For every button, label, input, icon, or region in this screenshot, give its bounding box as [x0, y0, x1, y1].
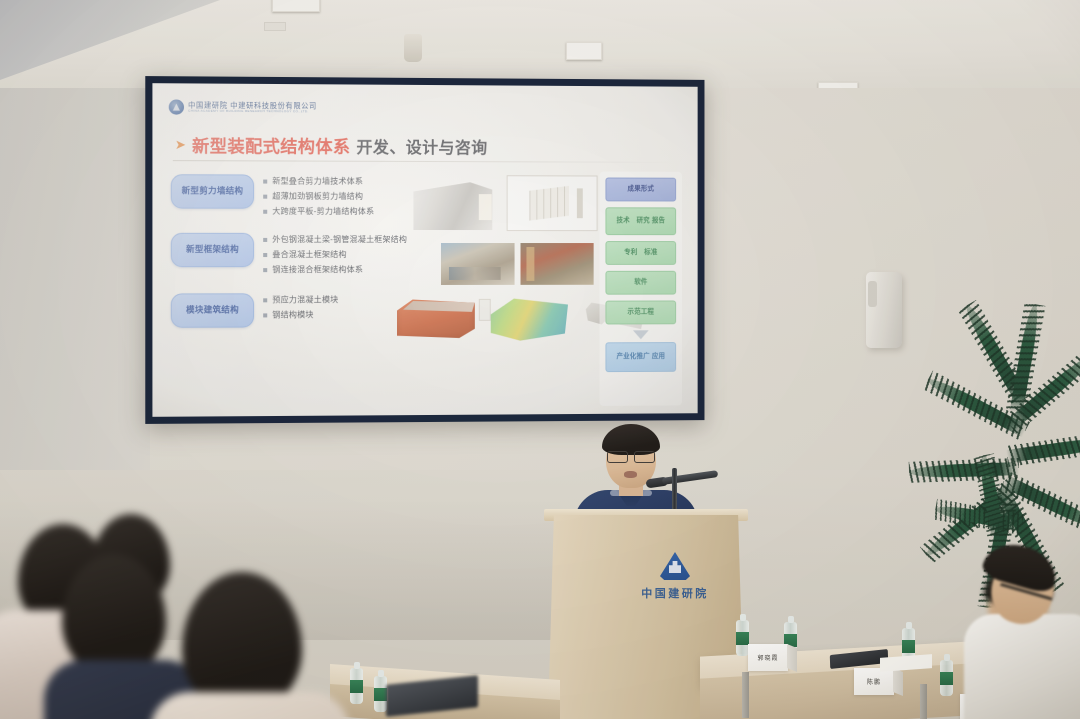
list-item: 钢连接混合框架结构体系	[263, 264, 407, 275]
name-placard: 陈鹏	[854, 668, 894, 695]
bullet-text: 钢连接混合框架结构体系	[272, 264, 363, 275]
list-item: 外包钢混凝土梁-钢管混凝土框架结构	[263, 234, 407, 245]
podium-organization-name: 中国建研院	[626, 585, 724, 601]
slide-title-highlight: 新型装配式结构体系	[192, 132, 350, 158]
table-leg	[742, 672, 749, 718]
presentation-slide: 中国建研院 中建研科技股份有限公司 CHINA ACADEMY OF BUILD…	[152, 83, 697, 417]
slide-title: ➤ 新型装配式结构体系 开发、设计与咨询	[175, 132, 488, 158]
slide-logo: 中国建研院 中建研科技股份有限公司 CHINA ACADEMY OF BUILD…	[169, 99, 317, 115]
flow-column: 成果形式 技术 研究 报告 专利 标准 软件 示范工程 产业化推广 应用	[605, 178, 676, 379]
slide-logo-cn: 中国建研院 中建研科技股份有限公司	[188, 101, 317, 109]
bullet-list: 新型叠合剪力墙技术体系 超薄加劲钢板剪力墙结构 大跨度平板-剪力墙结构体系	[263, 175, 374, 221]
list-item: 钢结构模块	[263, 309, 338, 320]
water-bottle	[940, 660, 953, 696]
flow-step: 示范工程	[605, 300, 676, 324]
down-arrow-icon	[633, 330, 649, 339]
bullet-text: 预应力混凝土模块	[272, 294, 338, 305]
bullet-text: 超薄加劲钢板剪力墙结构	[272, 191, 363, 202]
fea-legend	[479, 299, 491, 321]
palm-frond	[909, 462, 1019, 479]
slide-title-rest: 开发、设计与咨询	[356, 133, 487, 158]
slide-logo-en: CHINA ACADEMY OF BUILDING RESEARCH TECHN…	[188, 110, 317, 114]
construction-site-photo-b	[521, 243, 594, 285]
presenter-mouth	[624, 471, 637, 478]
bullet-text: 新型叠合剪力墙技术体系	[272, 176, 363, 187]
square-bullet-icon	[263, 298, 267, 302]
ceiling-light	[566, 42, 602, 60]
list-item: 新型叠合剪力墙技术体系	[263, 176, 374, 187]
ceiling-light	[272, 0, 320, 12]
ceiling-speaker	[404, 34, 422, 62]
glasses-icon	[607, 451, 655, 461]
water-bottle	[350, 668, 363, 704]
audience-shirt	[964, 614, 1080, 719]
square-bullet-icon	[263, 268, 267, 272]
list-item: 叠合混凝土框架结构	[263, 249, 407, 260]
square-bullet-icon	[263, 313, 267, 317]
concrete-module-render	[397, 297, 475, 339]
flow-step: 技术 研究 报告	[605, 207, 676, 235]
bullet-list: 外包钢混凝土梁-钢管混凝土框架结构 叠合混凝土框架结构 钢连接混合框架结构体系	[263, 233, 407, 279]
square-bullet-icon	[263, 253, 267, 257]
list-item: 大跨度平板-剪力墙结构体系	[263, 206, 374, 217]
cabr-emblem-icon	[660, 552, 690, 580]
title-divider	[173, 160, 672, 163]
conference-room-scene: 中国建研院 中建研科技股份有限公司 CHINA ACADEMY OF BUILD…	[0, 0, 1080, 719]
technical-drawing	[507, 175, 598, 231]
category-box: 新型框架结构	[171, 233, 254, 267]
name-placard: 郭晓霞	[748, 644, 788, 671]
category-box: 模块建筑结构	[171, 293, 254, 327]
table-leg	[920, 684, 927, 719]
bullet-text: 钢结构模块	[272, 309, 313, 320]
construction-site-photo-a	[441, 243, 515, 285]
list-item: 超薄加劲钢板剪力墙结构	[263, 191, 374, 202]
flow-step: 软件	[605, 271, 676, 295]
wall-dispenser	[866, 272, 902, 348]
foreground-laptop-area	[386, 678, 506, 719]
podium-logo: 中国建研院	[626, 552, 724, 601]
square-bullet-icon	[263, 179, 267, 183]
bullet-text: 叠合混凝土框架结构	[272, 249, 346, 260]
category-box: 新型剪力墙结构	[171, 174, 254, 208]
square-bullet-icon	[263, 237, 267, 241]
bullet-text: 大跨度平板-剪力墙结构体系	[272, 206, 374, 217]
bullet-arrow-icon: ➤	[175, 138, 186, 151]
audience-shoulders	[150, 692, 350, 719]
flow-footer: 产业化推广 应用	[605, 342, 676, 372]
foreground-audience	[0, 514, 330, 719]
flow-step: 专利 标准	[605, 241, 676, 265]
list-item: 预应力混凝土模块	[263, 294, 338, 305]
bullet-list: 预应力混凝土模块 钢结构模块	[263, 293, 338, 324]
bullet-text: 外包钢混凝土梁-钢管混凝土框架结构	[272, 234, 407, 245]
side-wall	[0, 88, 150, 518]
audience-member-writing	[958, 548, 1080, 719]
cabr-logo-icon	[169, 99, 184, 114]
square-bullet-icon	[263, 194, 267, 198]
projection-screen: 中国建研院 中建研科技股份有限公司 CHINA ACADEMY OF BUILD…	[145, 76, 704, 424]
audience-head-back	[182, 572, 302, 712]
flow-header: 成果形式	[605, 178, 676, 202]
ceiling-vent	[264, 22, 286, 31]
square-bullet-icon	[263, 209, 267, 213]
